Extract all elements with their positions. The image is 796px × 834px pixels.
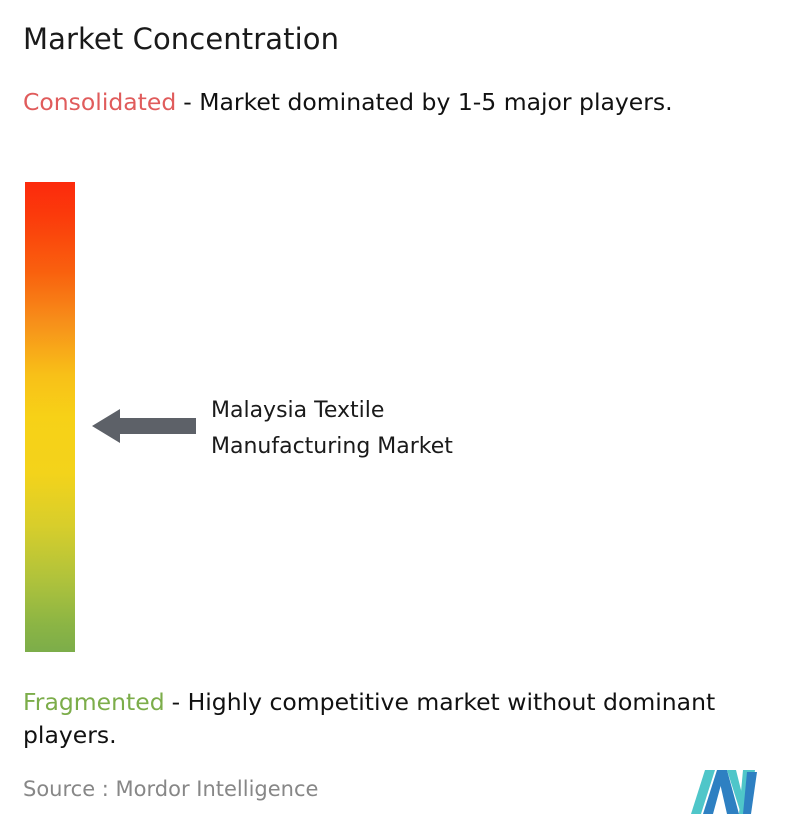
legend-description-consolidated: - Market dominated by 1-5 major players. xyxy=(183,88,672,116)
source-attribution: Source : Mordor Intelligence xyxy=(23,775,318,804)
concentration-gradient-bar xyxy=(25,182,75,652)
mordor-intelligence-logo-icon xyxy=(691,770,763,814)
market-position-label: Malaysia Textile Manufacturing Market xyxy=(211,393,453,465)
legend-term-fragmented: Fragmented xyxy=(23,688,165,716)
market-concentration-figure: Market Concentration Consolidated- Marke… xyxy=(0,0,796,834)
legend-consolidated: Consolidated- Market dominated by 1-5 ma… xyxy=(23,86,783,119)
legend-term-consolidated: Consolidated xyxy=(23,88,176,116)
legend-fragmented: Fragmented- Highly competitive market wi… xyxy=(23,686,795,752)
market-position-arrow-icon xyxy=(92,406,196,446)
page-title: Market Concentration xyxy=(23,20,339,58)
